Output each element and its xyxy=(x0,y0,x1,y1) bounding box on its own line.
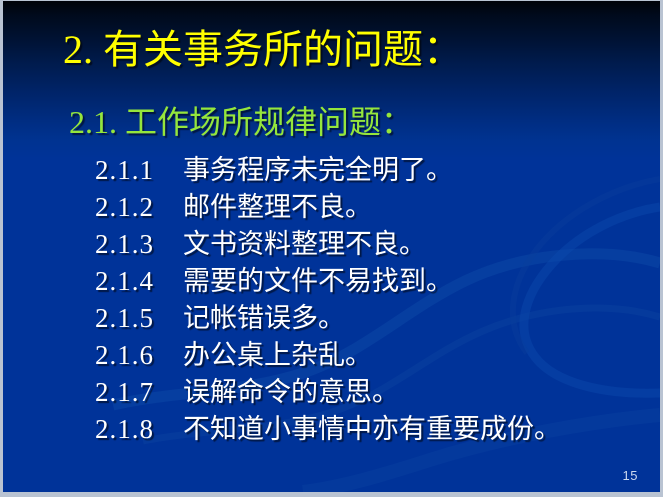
list-item: 2.1.7误解命令的意思。 xyxy=(95,375,655,412)
list-item-number: 2.1.2 xyxy=(95,190,183,224)
list-item-text: 事务程序未完全明了。 xyxy=(183,153,453,187)
bullet-list: 2.1.1事务程序未完全明了。 2.1.2邮件整理不良。 2.1.3文书资料整理… xyxy=(95,153,655,449)
list-item: 2.1.3文书资料整理不良。 xyxy=(95,227,655,264)
slide-subtitle: 2.1. 工作场所规律问题： xyxy=(69,103,413,141)
list-item-number: 2.1.6 xyxy=(95,338,183,372)
presentation-slide: 2. 有关事务所的问题： 2.1. 工作场所规律问题： 2.1.1事务程序未完全… xyxy=(0,0,663,497)
list-item-number: 2.1.4 xyxy=(95,264,183,298)
slide-content: 2. 有关事务所的问题： 2.1. 工作场所规律问题： 2.1.1事务程序未完全… xyxy=(3,1,660,492)
list-item-text: 记帐错误多。 xyxy=(183,301,345,335)
list-item-number: 2.1.5 xyxy=(95,301,183,335)
list-item: 2.1.1事务程序未完全明了。 xyxy=(95,153,655,190)
list-item-text: 误解命令的意思。 xyxy=(183,375,399,409)
list-item-text: 办公桌上杂乱。 xyxy=(183,338,372,372)
list-item-number: 2.1.1 xyxy=(95,153,183,187)
list-item-number: 2.1.7 xyxy=(95,375,183,409)
slide-title: 2. 有关事务所的问题： xyxy=(63,27,463,73)
list-item-number: 2.1.8 xyxy=(95,412,183,446)
list-item-number: 2.1.3 xyxy=(95,227,183,261)
list-item: 2.1.5记帐错误多。 xyxy=(95,301,655,338)
list-item: 2.1.4需要的文件不易找到。 xyxy=(95,264,655,301)
list-item: 2.1.8不知道小事情中亦有重要成份。 xyxy=(95,412,655,449)
list-item: 2.1.6办公桌上杂乱。 xyxy=(95,338,655,375)
list-item: 2.1.2邮件整理不良。 xyxy=(95,190,655,227)
list-item-text: 需要的文件不易找到。 xyxy=(183,264,453,298)
page-number: 15 xyxy=(623,468,638,483)
list-item-text: 不知道小事情中亦有重要成份。 xyxy=(183,412,561,446)
list-item-text: 邮件整理不良。 xyxy=(183,190,372,224)
list-item-text: 文书资料整理不良。 xyxy=(183,227,426,261)
